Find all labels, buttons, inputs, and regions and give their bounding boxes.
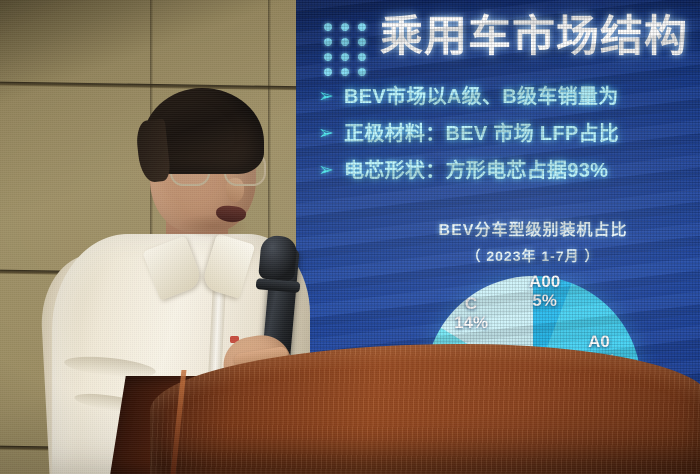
- hair-sideburn: [135, 119, 171, 184]
- chart-title: BEV分车型级别装机占比: [366, 216, 700, 240]
- page-title: 乘用车市场结构: [380, 13, 688, 61]
- list-item: ➢ 电芯形状：方形电芯占据93%: [318, 156, 700, 193]
- list-item: ➢ BEV市场以A级、B级车销量为: [318, 82, 700, 119]
- microphone-head: [258, 235, 298, 282]
- chart-subtitle: （ 2023年 1-7月 ）: [366, 246, 700, 266]
- bullet-text: BEV市场以A级、B级车销量为: [344, 82, 619, 112]
- bullet-text: 电芯形状：方形电芯占据93%: [344, 156, 608, 186]
- bullet-list: ➢ BEV市场以A级、B级车销量为 ➢ 正极材料：BEV 市场 LFP占比 ➢ …: [318, 82, 700, 193]
- list-item: ➢ 正极材料：BEV 市场 LFP占比: [318, 119, 700, 156]
- bullet-text: 正极材料：BEV 市场 LFP占比: [344, 119, 619, 149]
- dot-grid-icon: [324, 23, 366, 76]
- screenshot-root: 乘用车市场结构 ➢ BEV市场以A级、B级车销量为 ➢ 正极材料：BEV 市场 …: [0, 0, 700, 474]
